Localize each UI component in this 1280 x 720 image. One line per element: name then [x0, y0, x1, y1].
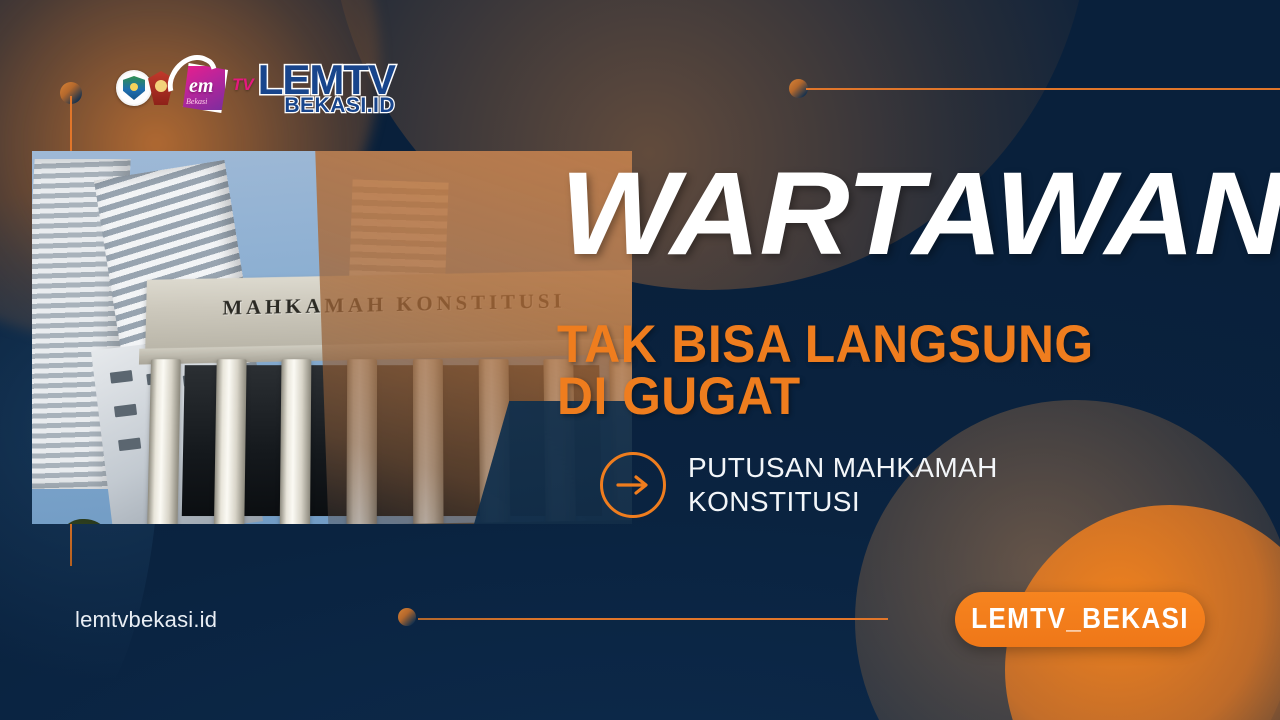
- decorative-dot-bottom: [398, 608, 416, 626]
- kicker-row: PUTUSAN MAHKAMAH KONSTITUSI: [600, 451, 998, 519]
- courthouse-photo: MAHKAMAH KONSTITUSI: [32, 151, 632, 524]
- headline-subtitle: TAK BISA LANGSUNG DI GUGAT: [557, 319, 1094, 423]
- shield-icon: [123, 76, 145, 100]
- arrow-right-icon[interactable]: [600, 452, 666, 518]
- website-url[interactable]: lemtvbekasi.id: [75, 607, 217, 633]
- kicker-line-2: KONSTITUSI: [688, 485, 998, 519]
- monogram-letters: em: [189, 75, 213, 98]
- social-handle-button[interactable]: LEMTV_BEKASI: [955, 592, 1205, 647]
- headline-block: WARTAWAN TAK BISA LANGSUNG DI GUGAT PUTU…: [560, 163, 1280, 267]
- kicker-line-1: PUTUSAN MAHKAMAH: [688, 451, 998, 485]
- headline-title: WARTAWAN: [560, 163, 1280, 267]
- photo-column: [280, 359, 312, 524]
- monogram-subtext: Bekasi: [186, 97, 207, 106]
- lem-monogram-icon: em Bekasi: [172, 57, 236, 119]
- photo-column: [214, 359, 247, 524]
- photo-column: [147, 359, 181, 524]
- poster-canvas: MAHKAMAH KONSTITUSI: [0, 0, 1280, 720]
- government-emblem-icon: [116, 70, 152, 106]
- headline-subtitle-line-2: DI GUGAT: [557, 371, 1094, 423]
- decorative-line-bottom: [418, 618, 888, 620]
- decorative-line-top-right: [806, 88, 1280, 90]
- kicker-text: PUTUSAN MAHKAMAH KONSTITUSI: [688, 451, 998, 519]
- social-handle-label: LEMTV_BEKASI: [971, 603, 1189, 636]
- brand-logo[interactable]: em Bekasi TV LEMTV BEKASI.ID: [116, 44, 395, 132]
- brand-wordmark: LEMTV BEKASI.ID: [258, 61, 395, 115]
- headline-subtitle-line-1: TAK BISA LANGSUNG: [557, 319, 1094, 371]
